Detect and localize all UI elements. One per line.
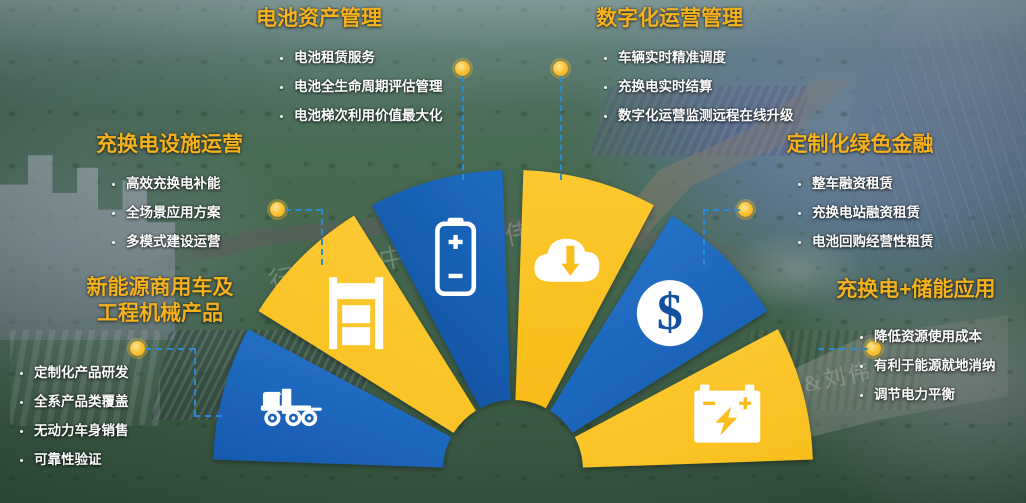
- connector-line-finance-h: [703, 209, 740, 211]
- list-item: 可靠性验证: [18, 452, 280, 468]
- list-item: 电池全生命周期评估管理: [278, 79, 443, 95]
- bullet-list-charging-swap-facility-operation: 高效充换电补能 全场景应用方案 多模式建设运营: [110, 176, 243, 250]
- block-title-customized-green-finance: 定制化绿色金融: [778, 132, 934, 158]
- bullet-list-charging-swap-plus-storage: 降低资源使用成本 有利于能源就地消纳 调节电力平衡: [858, 329, 996, 403]
- list-item: 无动力车身销售: [18, 423, 280, 439]
- block-title-charging-swap-facility-operation: 充换电设施运营: [96, 132, 243, 158]
- block-title-line-2: 工程机械产品: [40, 301, 280, 327]
- block-title-battery-asset-management: 电池资产管理: [256, 6, 443, 32]
- bullet-list-digital-operation-management: 车辆实时精准调度 充换电实时结算 数字化运营监测远程在线升级: [602, 50, 794, 124]
- connector-line-finance-v: [703, 209, 705, 265]
- block-title-charging-swap-plus-storage: 充换电+储能应用: [836, 277, 996, 303]
- list-item: 整车融资租赁: [796, 176, 934, 192]
- text-block-battery-asset-management: 电池资产管理 电池租赁服务 电池全生命周期评估管理 电池梯次利用价值最大化: [252, 6, 443, 137]
- connector-dot-facility-operation: [270, 202, 285, 217]
- text-block-charging-swap-facility-operation: 充换电设施运营 高效充换电补能 全场景应用方案 多模式建设运营: [96, 132, 243, 263]
- list-item: 降低资源使用成本: [858, 329, 996, 345]
- block-title-new-energy-commercial-vehicle: 新能源商用车及 工程机械产品: [40, 275, 280, 327]
- connector-line-facility-h: [285, 209, 322, 211]
- list-item: 调节电力平衡: [858, 387, 996, 403]
- list-item: 充换电实时结算: [602, 79, 794, 95]
- infographic-canvas: 行业客户中心&&刘伟 liuwei. local&&刘伟: [0, 0, 1026, 503]
- list-item: 定制化产品研发: [18, 365, 280, 381]
- list-item: 电池租赁服务: [278, 50, 443, 66]
- list-item: 电池梯次利用价值最大化: [278, 108, 443, 124]
- list-item: 全场景应用方案: [110, 205, 243, 221]
- list-item: 多模式建设运营: [110, 234, 243, 250]
- svg-text:$: $: [657, 284, 683, 341]
- list-item: 车辆实时精准调度: [602, 50, 794, 66]
- connector-line-digital-operation: [560, 76, 562, 180]
- connector-dot-digital-operation: [553, 61, 568, 76]
- dollar-circle-icon: $: [637, 280, 703, 346]
- text-block-digital-operation-management: 数字化运营管理 车辆实时精准调度 充换电实时结算 数字化运营监测远程在线升级: [592, 6, 794, 137]
- connector-dot-battery-asset: [455, 61, 470, 76]
- list-item: 有利于能源就地消纳: [858, 358, 996, 374]
- list-item: 充换电站融资租赁: [796, 205, 934, 221]
- list-item: 电池回购经营性租赁: [796, 234, 934, 250]
- bullet-list-customized-green-finance: 整车融资租赁 充换电站融资租赁 电池回购经营性租赁: [796, 176, 934, 250]
- storage-battery-icon: [694, 385, 760, 443]
- bullet-list-new-energy-commercial-vehicle: 定制化产品研发 全系产品类覆盖 无动力车身销售 可靠性验证: [18, 365, 280, 468]
- text-block-new-energy-commercial-vehicle: 新能源商用车及 工程机械产品 定制化产品研发 全系产品类覆盖 无动力车身销售 可…: [40, 275, 280, 481]
- list-item: 全系产品类覆盖: [18, 394, 280, 410]
- bullet-list-battery-asset-management: 电池租赁服务 电池全生命周期评估管理 电池梯次利用价值最大化: [278, 50, 443, 124]
- block-title-digital-operation-management: 数字化运营管理: [596, 6, 794, 32]
- list-item: 高效充换电补能: [110, 176, 243, 192]
- block-title-line-1: 新能源商用车及: [40, 275, 280, 301]
- connector-dot-green-finance: [738, 202, 753, 217]
- text-block-customized-green-finance: 定制化绿色金融 整车融资租赁 充换电站融资租赁 电池回购经营性租赁: [778, 132, 934, 263]
- connector-line-battery-asset: [462, 76, 464, 180]
- text-block-charging-swap-plus-storage: 充换电+储能应用 降低资源使用成本 有利于能源就地消纳 调节电力平衡: [836, 277, 996, 416]
- list-item: 数字化运营监测远程在线升级: [602, 108, 794, 124]
- connector-line-facility-v: [321, 209, 323, 265]
